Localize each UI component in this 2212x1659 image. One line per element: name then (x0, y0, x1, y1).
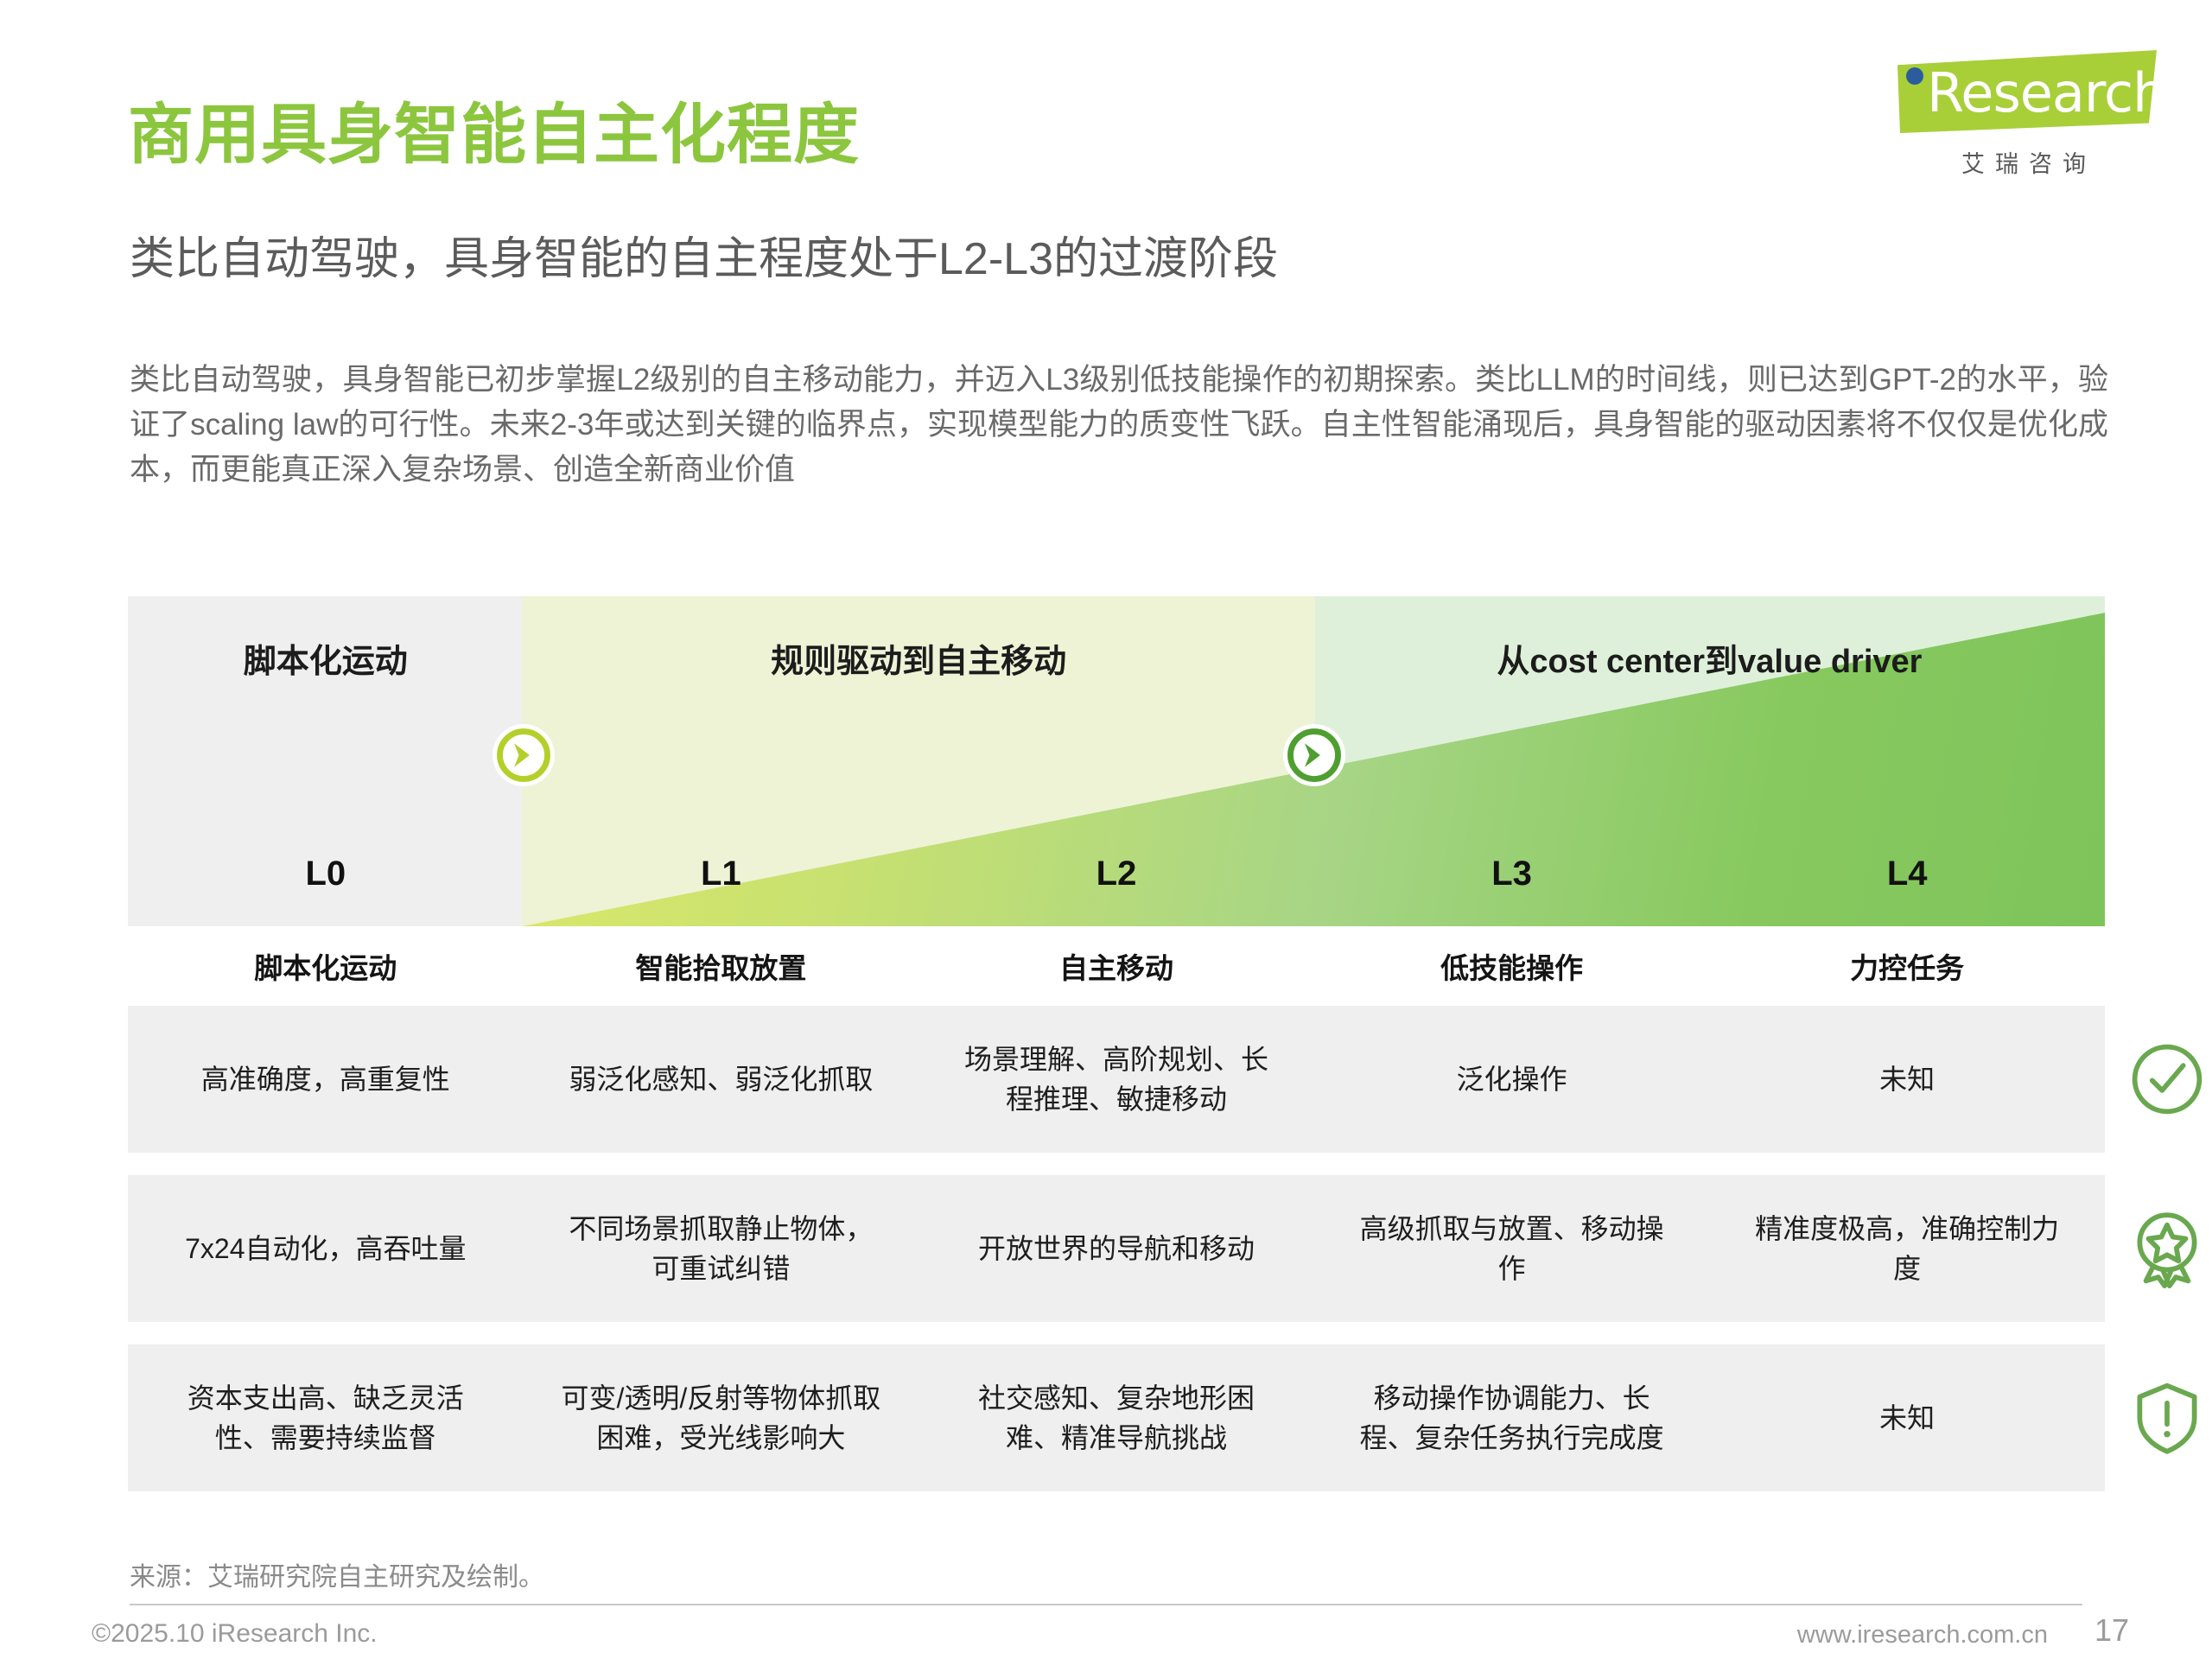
arrow-right-icon-l0-l1 (493, 724, 555, 786)
table-cell: 高级抓取与放置、移动操作 (1314, 1193, 1710, 1304)
award-badge-icon (2127, 1209, 2207, 1288)
level-caption-l2: 自主移动 (918, 945, 1314, 987)
table-cell: 场景理解、高阶规划、长程推理、敏捷移动 (918, 1024, 1314, 1135)
arrow-right-icon-l2-l3 (1283, 724, 1345, 786)
level-column-l2: L2 (918, 596, 1314, 926)
level-caption-l4: 力控任务 (1709, 945, 2105, 987)
table-cell: 未知 (1709, 1382, 2105, 1453)
level-column-l3: L3 (1314, 596, 1710, 926)
table-cell: 精准度极高，准确控制力度 (1709, 1193, 2105, 1304)
check-circle-icon (2127, 1039, 2207, 1119)
table-cell: 高准确度，高重复性 (128, 1044, 524, 1115)
level-label-l4: L4 (1709, 855, 2105, 893)
logo-i-stem (1908, 90, 1922, 130)
level-label-l3: L3 (1314, 855, 1710, 893)
copyright-text: ©2025.10 iResearch Inc. (92, 1619, 378, 1649)
table-cell: 未知 (1709, 1044, 2105, 1115)
body-paragraph: 类比自动驾驶，具身智能已初步掌握L2级别的自主移动能力，并迈入L3级别低技能操作… (130, 358, 2108, 493)
shield-alert-icon (2127, 1378, 2207, 1458)
level-label-l2: L2 (918, 855, 1314, 893)
table-row: 7x24自动化，高吞吐量 不同场景抓取静止物体，可重试纠错 开放世界的导航和移动… (128, 1175, 2105, 1322)
table-cell: 泛化操作 (1314, 1044, 1710, 1115)
level-caption-l1: 智能拾取放置 (524, 945, 919, 987)
table-cell: 移动操作协调能力、长程、复杂任务执行完成度 (1314, 1363, 1710, 1473)
page-title: 商用具身智能自主化程度 (128, 97, 860, 175)
table-row: 资本支出高、缺乏灵活性、需要持续监督 可变/透明/反射等物体抓取困难，受光线影响… (128, 1344, 2105, 1491)
table-cell: 不同场景抓取静止物体，可重试纠错 (524, 1193, 919, 1304)
table-cell: 开放世界的导航和移动 (918, 1213, 1314, 1284)
iresearch-logo: Research 艾瑞咨询 (1873, 47, 2158, 179)
autonomy-level-matrix: 脚本化运动 规则驱动到自主移动 从cost center到value drive… (128, 596, 2105, 1514)
level-column-l4: L4 (1709, 596, 2105, 926)
level-column-l0: L0 (128, 596, 524, 926)
logo-wordmark: Research (1927, 62, 2165, 124)
logo-i-dot (1906, 67, 1923, 85)
website-url[interactable]: www.iresearch.com.cn (1797, 1621, 2048, 1649)
page-number: 17 (2094, 1612, 2129, 1649)
table-cell: 弱泛化感知、弱泛化抓取 (524, 1044, 919, 1115)
logo-mark: Research (1873, 47, 2158, 140)
logo-chinese-name: 艾瑞咨询 (1873, 145, 2158, 179)
page-subtitle: 类比自动驾驶，具身智能的自主程度处于L2-L3的过渡阶段 (130, 232, 1278, 287)
level-band: 脚本化运动 规则驱动到自主移动 从cost center到value drive… (128, 596, 2105, 926)
table-cell: 7x24自动化，高吞吐量 (128, 1213, 524, 1284)
band-content: 脚本化运动 规则驱动到自主移动 从cost center到value drive… (128, 596, 2105, 926)
level-caption-row: 脚本化运动 智能拾取放置 自主移动 低技能操作 力控任务 (128, 926, 2105, 1006)
table-cell: 资本支出高、缺乏灵活性、需要持续监督 (128, 1363, 524, 1473)
table-row: 高准确度，高重复性 弱泛化感知、弱泛化抓取 场景理解、高阶规划、长程推理、敏捷移… (128, 1006, 2105, 1153)
level-label-l1: L1 (524, 855, 919, 893)
level-label-l0: L0 (128, 855, 524, 893)
table-cell: 社交感知、复杂地形困难、精准导航挑战 (918, 1363, 1314, 1473)
source-note: 来源：艾瑞研究院自主研究及绘制。 (130, 1555, 544, 1593)
table-cell: 可变/透明/反射等物体抓取困难，受光线影响大 (524, 1363, 919, 1473)
level-column-l1: L1 (524, 596, 919, 926)
level-caption-l0: 脚本化运动 (128, 945, 524, 987)
slide-root: Research 艾瑞咨询 商用具身智能自主化程度 类比自动驾驶，具身智能的自主… (0, 0, 2212, 1659)
footer-divider (130, 1604, 2082, 1605)
level-caption-l3: 低技能操作 (1314, 945, 1710, 987)
